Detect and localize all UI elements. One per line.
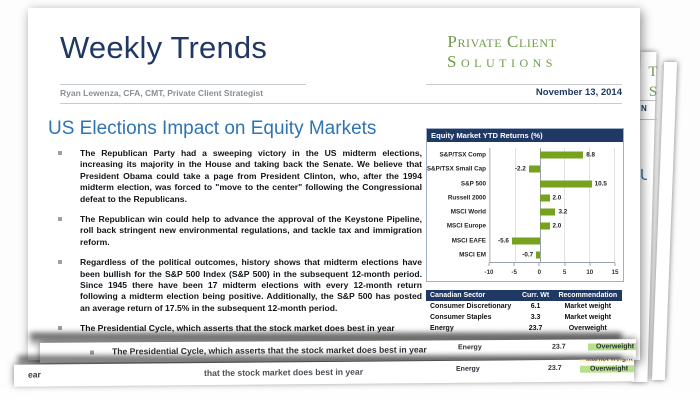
- chart-x-tick-label: 5: [563, 269, 566, 276]
- ghost-weight: 23.7: [548, 365, 562, 372]
- chart-gridline: [490, 148, 491, 262]
- header-divider-right: [426, 84, 622, 85]
- chart-value-label: 10.5: [595, 180, 607, 187]
- chart-category-label: MSCI EAFE: [452, 237, 486, 244]
- bullet-text: The Republican Party had a sweeping vict…: [80, 148, 422, 205]
- section-heading: US Elections Impact on Equity Markets: [48, 118, 376, 140]
- chart-gridline: [589, 148, 590, 262]
- slide-page: Weekly Trends Private Client Solutions R…: [28, 8, 640, 360]
- chart-category-label: Russell 2000: [448, 194, 486, 201]
- ghost-recommendation: Overweight: [580, 365, 634, 373]
- publication-date: November 13, 2014: [536, 87, 622, 98]
- bullet-text: The Republican win could help to advance…: [80, 214, 422, 248]
- ghost-page-layer-2: ear that the stock market does best in y…: [14, 359, 634, 386]
- column-header-recommendation: Recommendation: [554, 290, 622, 301]
- table-row: Consumer Staples3.3Market weight: [426, 312, 622, 323]
- chart-x-tick-mark: [589, 263, 590, 266]
- bullet-marker-icon: [58, 260, 62, 264]
- ghost-bullet-text: The Presidential Cycle, which asserts th…: [112, 344, 427, 356]
- chart-value-label: -5.6: [498, 237, 509, 244]
- list-item: The Republican win could help to advance…: [50, 214, 422, 248]
- cell-sector: Consumer Discretionary: [426, 301, 518, 312]
- chart-gridline: [564, 148, 565, 262]
- chart-gridline: [614, 148, 615, 262]
- author-byline: Ryan Lewenza, CFA, CMT, Private Client S…: [60, 88, 263, 98]
- bullet-list: The Republican Party had a sweeping vict…: [50, 148, 422, 344]
- sliver-date-fragment: N: [641, 104, 657, 116]
- sliver-brand-initial-s: S: [641, 82, 665, 102]
- chart-bar: [540, 223, 550, 230]
- chart-x-tick-label: -10: [485, 269, 494, 276]
- page-title: Weekly Trends: [60, 30, 267, 66]
- chart-value-label: 2.0: [553, 223, 562, 230]
- column-header-sector: Canadian Sector: [426, 290, 518, 301]
- table-body: Consumer Discretionary6.1Market weightCo…: [426, 301, 622, 334]
- chart-zero-line: [540, 148, 541, 262]
- chart-category-label: MSCI EM: [459, 251, 486, 258]
- ghost-recommendation-alt: Market weight: [580, 359, 634, 362]
- ghost-tail-text: that the stock market does best in year: [204, 367, 363, 378]
- cell-recommendation: Market weight: [554, 301, 622, 312]
- chart-bar: [529, 166, 540, 173]
- chart-x-tick-mark: [514, 263, 515, 266]
- bottom-fade: [0, 384, 700, 404]
- header-divider-left: [60, 84, 306, 85]
- chart-value-label: 2.0: [553, 194, 562, 201]
- cell-recommendation: Market weight: [554, 312, 622, 323]
- ghost-sector: Energy: [456, 366, 480, 373]
- bullet-marker-icon: [58, 217, 62, 221]
- header-divider-full: [60, 103, 622, 104]
- cell-weight: 6.1: [518, 301, 554, 312]
- list-item: The Republican Party had a sweeping vict…: [50, 148, 422, 205]
- ghost-sector: Energy: [458, 344, 482, 351]
- ghost-tail-word: ear: [28, 369, 41, 379]
- ghost-recommendation: Overweight: [588, 343, 636, 350]
- bullet-marker-icon: [90, 350, 94, 354]
- sliver-brand-initial-t: T: [641, 62, 665, 82]
- chart-plot-area: S&P/TSX Comp8.8S&P/TSX Small Cap-2.2S&P …: [489, 148, 615, 262]
- sector-recommendation-table: Canadian Sector Curr. Wt Recommendation …: [426, 290, 622, 334]
- chart-bar: [536, 251, 539, 258]
- cell-weight: 3.3: [518, 312, 554, 323]
- table-row: Consumer Discretionary6.1Market weight: [426, 301, 622, 312]
- chart-bar: [540, 209, 556, 216]
- chart-value-label: -0.7: [522, 251, 533, 258]
- brand-line-2: Solutions: [382, 52, 622, 72]
- chart-x-tick-label: 10: [586, 269, 593, 276]
- list-item: Regardless of the political outcomes, hi…: [50, 257, 422, 314]
- bullet-text: Regardless of the political outcomes, hi…: [80, 257, 422, 314]
- chart-value-label: 8.8: [586, 152, 595, 159]
- chart-category-label: S&P/TSX Comp: [439, 152, 486, 159]
- chart-bar: [512, 237, 540, 244]
- chart-category-label: S&P 500: [461, 180, 486, 187]
- chart-title: Equity Market YTD Returns (%): [427, 129, 623, 142]
- chart-bar: [540, 152, 584, 159]
- chart-value-label: -2.2: [515, 166, 526, 173]
- brand-lockup: Private Client Solutions: [382, 32, 622, 72]
- sliver-rule-top: [639, 100, 657, 101]
- chart-x-tick-mark: [489, 263, 490, 266]
- chart-x-tick-label: 15: [612, 269, 619, 276]
- chart-x-axis: [489, 262, 615, 263]
- ghost-weight: 23.7: [552, 344, 566, 351]
- chart-category-label: MSCI World: [451, 209, 486, 216]
- brand-line-1: Private Client: [382, 32, 622, 52]
- cell-sector: Consumer Staples: [426, 312, 518, 323]
- table-header-row: Canadian Sector Curr. Wt Recommendation: [426, 290, 622, 301]
- chart-bar: [540, 194, 550, 201]
- sliver-rule-bottom: [639, 119, 657, 120]
- chart-category-label: MSCI Europe: [447, 223, 486, 230]
- chart-x-tick-label: -5: [511, 269, 517, 276]
- column-header-weight: Curr. Wt: [518, 290, 554, 301]
- screenshot-canvas: T S N U Weekly Trends Private Client Sol…: [0, 0, 700, 404]
- chart-x-tick-label: 0: [538, 269, 541, 276]
- chart-x-tick-mark: [539, 263, 540, 266]
- chart-value-label: 3.2: [558, 209, 567, 216]
- chart-x-tick-mark: [615, 263, 616, 266]
- chart-category-label: S&P/TSX Small Cap: [427, 166, 486, 173]
- sliver-heading-fragment: U: [640, 167, 647, 183]
- chart-body: S&P/TSX Comp8.8S&P/TSX Small Cap-2.2S&P …: [427, 142, 623, 280]
- bullet-marker-icon: [58, 151, 62, 155]
- chart-bar: [540, 180, 592, 187]
- equity-returns-chart: Equity Market YTD Returns (%) S&P/TSX Co…: [426, 128, 624, 282]
- chart-x-tick-mark: [564, 263, 565, 266]
- bullet-marker-icon: [58, 326, 62, 330]
